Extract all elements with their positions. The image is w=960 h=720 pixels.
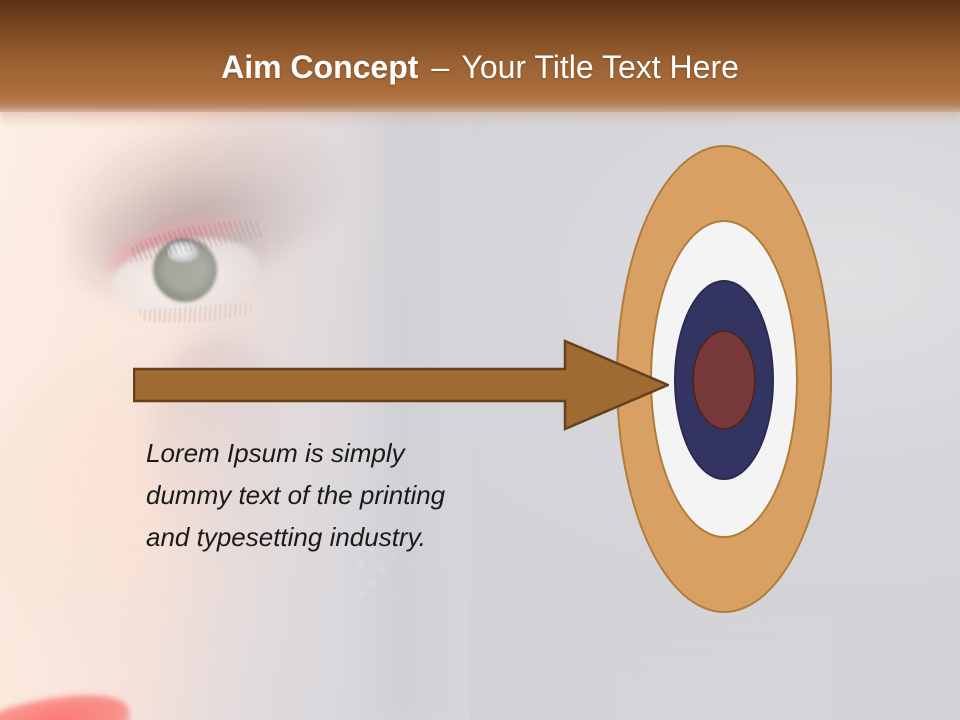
body-text-line-1: Lorem Ipsum is simply	[146, 432, 566, 474]
title-strong: Aim Concept	[221, 49, 418, 85]
target-reflection	[616, 613, 832, 720]
body-text-line-3: and typesetting industry.	[146, 516, 566, 558]
pointer-arrow[interactable]	[133, 339, 669, 431]
header-feather-edge	[0, 100, 960, 126]
body-text-block: Lorem Ipsum is simply dummy text of the …	[146, 432, 566, 558]
title-rest: Your Title Text Here	[461, 49, 738, 85]
arrow-icon	[133, 339, 669, 431]
presentation-slide: Aim Concept – Your Title Text Here Lorem…	[0, 0, 960, 720]
page-title: Aim Concept – Your Title Text Here	[0, 48, 960, 86]
title-dash: –	[427, 49, 453, 85]
body-text-line-2: dummy text of the printing	[146, 474, 566, 516]
target-bullseye-core	[692, 330, 756, 430]
